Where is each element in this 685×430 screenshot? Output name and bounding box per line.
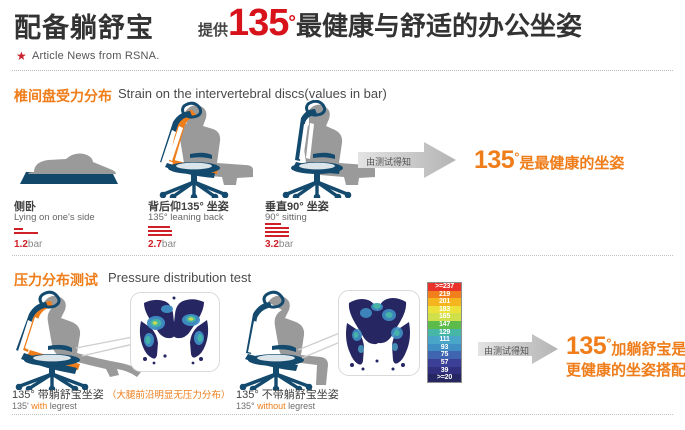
star-icon: ★ bbox=[16, 50, 27, 62]
chair-reclined-icon bbox=[148, 100, 268, 198]
arrow-label: 由测试得知 bbox=[366, 155, 411, 168]
section-strain: 椎间盘受力分布 Strain on the intervertebral dis… bbox=[0, 80, 685, 255]
item2-label-cn: 135° 不带躺舒宝坐姿 bbox=[236, 386, 339, 402]
strain-value-number: 2.7 bbox=[148, 239, 162, 250]
header-source-note: Article News from RSNA. bbox=[32, 50, 159, 62]
strain-value-number: 3.2 bbox=[265, 239, 279, 250]
conclusion-number: 135 bbox=[566, 332, 606, 360]
legend-stop: 183 bbox=[428, 306, 461, 314]
legend-stop: 129 bbox=[428, 329, 461, 337]
item-label-en: 135° leaning back bbox=[148, 212, 224, 223]
page-header: 配备躺舒宝 提供135°最健康与舒适的办公坐姿 ★ Article News f… bbox=[0, 0, 685, 70]
conclusion-text: 是最健康的坐姿 bbox=[519, 155, 624, 172]
header-slogan: 提供135°最健康与舒适的办公坐姿 bbox=[198, 2, 582, 45]
header-divider bbox=[12, 70, 673, 71]
strain-value-number: 1.2 bbox=[14, 239, 28, 250]
item2-label-main: 135° 不带躺舒宝坐姿 bbox=[236, 389, 339, 401]
item2-en-pre: 135' bbox=[12, 401, 31, 411]
arrow-label: 由测试得知 bbox=[484, 344, 529, 357]
strain-bar-indicator bbox=[148, 226, 172, 238]
item-label-en: 90° sitting bbox=[265, 212, 307, 223]
item2-label-note: （大腿前沿明显无压力分布） bbox=[107, 390, 231, 401]
item2-en-post: legrest bbox=[47, 401, 77, 411]
section1-conclusion: 135°是最健康的坐姿 bbox=[474, 146, 624, 175]
strain-value: 1.2bar bbox=[14, 239, 42, 250]
item2-label-cn: 135° 带躺舒宝坐姿 （大腿前沿明显无压力分布） bbox=[12, 386, 230, 402]
poster-root: 配备躺舒宝 提供135°最健康与舒适的办公坐姿 ★ Article News f… bbox=[0, 0, 685, 430]
section1-divider bbox=[12, 255, 673, 256]
item2-en-mark: with bbox=[31, 401, 47, 411]
conclusion-line1: 加躺舒宝是 bbox=[611, 341, 685, 358]
section-pressure: 压力分布测试 Pressure distribution test bbox=[0, 262, 685, 430]
strain-value: 2.7bar bbox=[148, 239, 176, 250]
item2-label-en: 135' with legrest bbox=[12, 401, 77, 411]
slogan-degree-symbol: ° bbox=[288, 13, 296, 34]
person-lying-icon bbox=[14, 122, 124, 192]
section2-divider bbox=[12, 414, 673, 415]
pressure-map-with-legrest bbox=[130, 292, 220, 372]
conclusion-line2: 更健康的坐姿搭配 bbox=[566, 361, 685, 380]
section2-heading-en: Pressure distribution test bbox=[108, 270, 251, 285]
slogan-angle-number: 135 bbox=[228, 2, 288, 44]
strain-value-unit: bar bbox=[279, 239, 293, 250]
pressure-map-without-legrest bbox=[338, 290, 420, 376]
section1-heading-en: Strain on the intervertebral discs(value… bbox=[118, 86, 387, 101]
legend-stop: 39 bbox=[428, 367, 461, 375]
legend-stop: 111 bbox=[428, 336, 461, 344]
slogan-tail: 最健康与舒适的办公坐姿 bbox=[296, 11, 582, 41]
strain-value: 3.2bar bbox=[265, 239, 293, 250]
section2-heading-cn: 压力分布测试 bbox=[14, 270, 98, 290]
legend-stop: >=237 bbox=[428, 283, 461, 291]
legend-stop: 93 bbox=[428, 344, 461, 352]
item2-en-post: legrest bbox=[286, 401, 316, 411]
legend-stop: 219 bbox=[428, 291, 461, 299]
item2-en-mark: without bbox=[257, 401, 286, 411]
pressure-color-scale: >=23721920118316514712911193755739>=20 bbox=[427, 282, 462, 383]
section1-heading-cn: 椎间盘受力分布 bbox=[14, 86, 112, 106]
item2-label-main: 135° 带躺舒宝坐姿 bbox=[12, 389, 104, 401]
legend-stop: 147 bbox=[428, 321, 461, 329]
section2-conclusion: 135°加躺舒宝是 更健康的坐姿搭配 bbox=[566, 332, 685, 380]
legend-stop: 165 bbox=[428, 313, 461, 321]
strain-bar-indicator bbox=[265, 223, 289, 239]
item2-label-en: 135° without legrest bbox=[236, 401, 315, 411]
slogan-prefix: 提供 bbox=[198, 22, 228, 39]
legend-stop: 201 bbox=[428, 298, 461, 306]
legend-stop: >=20 bbox=[428, 374, 461, 382]
conclusion-number: 135 bbox=[474, 146, 514, 174]
legend-stop: 57 bbox=[428, 359, 461, 367]
item-label-en: Lying on one's side bbox=[14, 212, 95, 223]
item2-en-pre: 135° bbox=[236, 401, 257, 411]
page-title: 配备躺舒宝 bbox=[14, 6, 154, 45]
strain-value-unit: bar bbox=[28, 239, 42, 250]
legend-stop: 75 bbox=[428, 351, 461, 359]
strain-value-unit: bar bbox=[162, 239, 176, 250]
strain-bar-indicator bbox=[14, 228, 38, 236]
